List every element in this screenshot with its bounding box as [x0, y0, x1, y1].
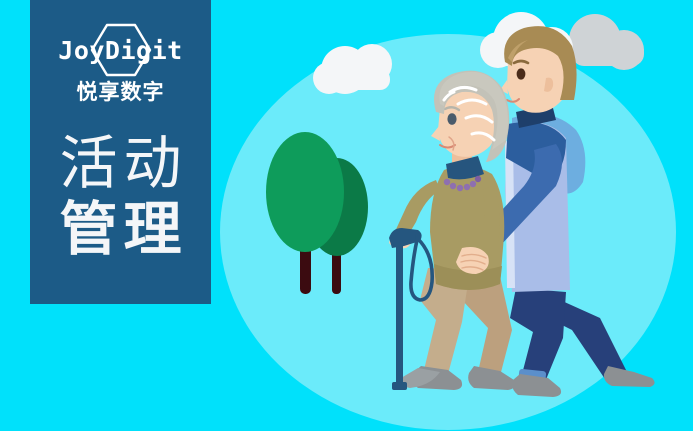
logo-wordmark: JoyDigit — [58, 38, 182, 63]
cane-shaft — [396, 244, 403, 388]
page-title: 活动 管理 — [53, 134, 187, 259]
logo-mark: JoyDigit — [41, 22, 201, 78]
man-eye — [517, 68, 526, 79]
page-title-line-1: 活动 — [53, 134, 187, 194]
brand-panel: JoyDigit 悦享数字 活动 管理 — [30, 0, 211, 304]
logo-subtitle-cn: 悦享数字 — [77, 82, 165, 103]
cane-tip — [392, 382, 407, 390]
woman-eye — [447, 113, 456, 125]
page-title-line-2: 管理 — [53, 200, 187, 260]
poster-canvas: JoyDigit 悦享数字 活动 管理 — [0, 0, 693, 431]
logo-block: JoyDigit 悦享数字 — [41, 22, 201, 114]
